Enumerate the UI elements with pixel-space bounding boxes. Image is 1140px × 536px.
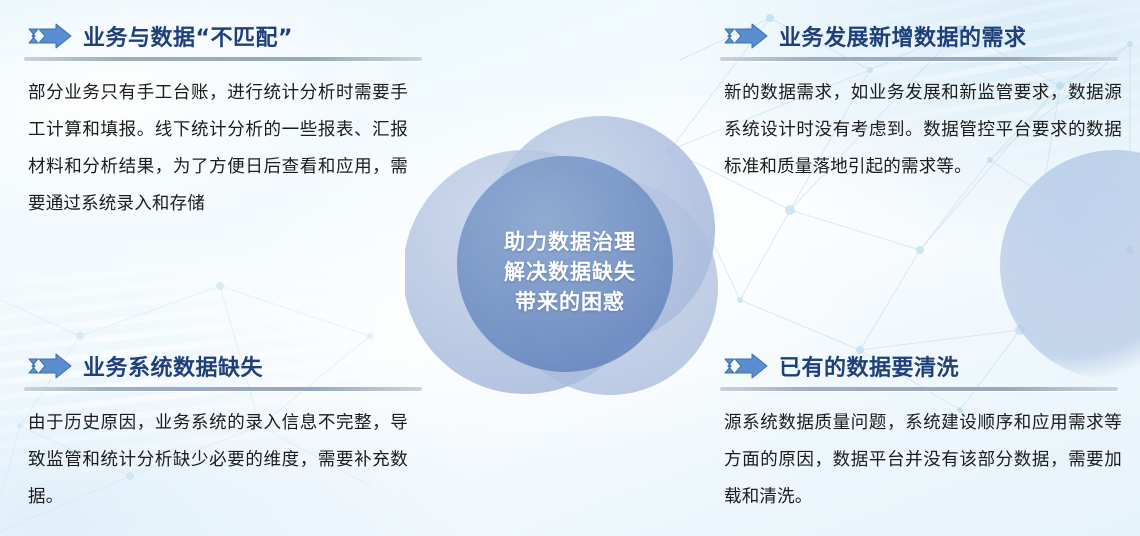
arrow-right-icon — [28, 23, 72, 49]
card-header: 业务与数据“不匹配” — [24, 18, 422, 54]
venn-label-line-1: 助力数据治理 — [405, 228, 735, 258]
card-new-data-demand: 业务发展新增数据的需求 新的数据需求，如业务发展和新监管要求，数据源系统设计时没… — [720, 18, 1118, 186]
arrow-right-icon — [724, 353, 768, 379]
card-divider — [24, 387, 422, 391]
card-body-text: 部分业务只有手工台账，进行统计分析时需要手工计算和填报。线下统计分析的一些报表、… — [24, 75, 408, 223]
card-divider — [720, 57, 1118, 61]
card-header: 已有的数据要清洗 — [720, 348, 1118, 384]
card-title: 业务发展新增数据的需求 — [779, 20, 1027, 52]
card-title: 已有的数据要清洗 — [779, 350, 959, 382]
card-business-system-data-missing: 业务系统数据缺失 由于历史原因，业务系统的录入信息不完整，导致监管和统计分析缺少… — [24, 348, 422, 516]
card-body-text: 新的数据需求，如业务发展和新监管要求，数据源系统设计时没有考虑到。数据管控平台要… — [720, 75, 1122, 186]
arrow-right-icon — [28, 353, 72, 379]
card-body-text: 源系统数据质量问题，系统建设顺序和应用需求等方面的原因，数据平台并没有该部分数据… — [720, 405, 1122, 516]
arrow-right-icon — [724, 23, 768, 49]
venn-label-line-3: 带来的困惑 — [405, 288, 735, 318]
venn-center-label: 助力数据治理 解决数据缺失 带来的困惑 — [405, 228, 735, 318]
card-header: 业务发展新增数据的需求 — [720, 18, 1118, 54]
card-title: 业务系统数据缺失 — [83, 350, 263, 382]
card-header: 业务系统数据缺失 — [24, 348, 422, 384]
venn-label-line-2: 解决数据缺失 — [405, 258, 735, 288]
card-existing-data-cleansing: 已有的数据要清洗 源系统数据质量问题，系统建设顺序和应用需求等方面的原因，数据平… — [720, 348, 1118, 516]
slide-canvas: 助力数据治理 解决数据缺失 带来的困惑 业务与数据“不匹配” 部分业务只有手工台… — [0, 0, 1140, 536]
card-divider — [720, 387, 1118, 391]
card-business-data-mismatch: 业务与数据“不匹配” 部分业务只有手工台账，进行统计分析时需要手工计算和填报。线… — [24, 18, 422, 223]
card-body-text: 由于历史原因，业务系统的录入信息不完整，导致监管和统计分析缺少必要的维度，需要补… — [24, 405, 408, 516]
card-divider — [24, 57, 422, 61]
card-title: 业务与数据“不匹配” — [83, 20, 293, 52]
